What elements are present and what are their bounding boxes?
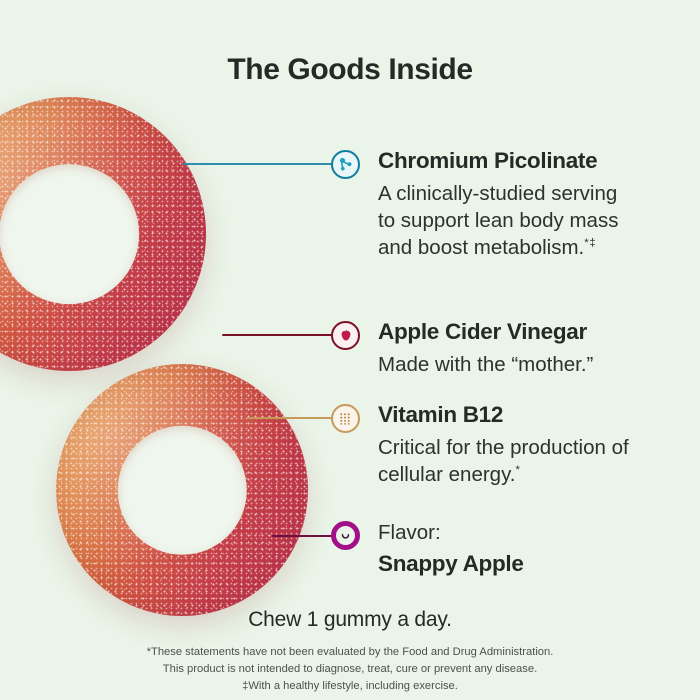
flavor-label: Flavor: bbox=[378, 521, 524, 546]
disclaimer-text: *These statements have not been evaluate… bbox=[0, 644, 700, 695]
ingredient-body-acv: Made with the “mother.” bbox=[378, 351, 668, 378]
page-title: The Goods Inside bbox=[0, 53, 700, 87]
ingredient-title-chromium: Chromium Picolinate bbox=[378, 148, 640, 175]
infographic-canvas: The Goods Inside Chromium Picolinate A c… bbox=[0, 0, 700, 700]
ingredient-title-acv: Apple Cider Vinegar bbox=[378, 319, 668, 346]
ingredient-block-chromium: Chromium Picolinate A clinically-studied… bbox=[378, 148, 640, 261]
ingredient-title-b12: Vitamin B12 bbox=[378, 402, 678, 429]
connector-line-acv bbox=[222, 334, 333, 336]
ingredient-body-chromium: A clinically-studied serving to support … bbox=[378, 180, 640, 262]
gummy-hole-top bbox=[0, 164, 139, 304]
ingredient-block-b12: Vitamin B12 Critical for the production … bbox=[378, 402, 678, 488]
disclaimer-line-3: ‡With a healthy lifestyle, including exe… bbox=[0, 678, 700, 695]
gummy-image-top bbox=[0, 97, 206, 371]
molecule-icon bbox=[331, 150, 360, 179]
ingredient-marks-b12: * bbox=[516, 464, 521, 476]
ingredient-body-text-chromium: A clinically-studied serving to support … bbox=[378, 182, 618, 260]
gummy-image-bottom bbox=[56, 364, 308, 616]
connector-line-b12 bbox=[247, 417, 333, 419]
smile-ring-icon bbox=[331, 521, 360, 550]
dosage-instruction: Chew 1 gummy a day. bbox=[0, 608, 700, 632]
disclaimer-line-2: This product is not intended to diagnose… bbox=[0, 661, 700, 678]
ingredient-body-text-b12: Critical for the production of cellular … bbox=[378, 436, 629, 486]
connector-line-flavor bbox=[272, 535, 333, 537]
ingredient-body-b12: Critical for the production of cellular … bbox=[378, 434, 678, 489]
gummy-hole-bottom bbox=[118, 426, 247, 555]
apple-icon bbox=[331, 321, 360, 350]
dotted-grid-icon bbox=[331, 404, 360, 433]
flavor-block: Flavor: Snappy Apple bbox=[378, 521, 524, 577]
connector-line-chromium bbox=[183, 163, 333, 165]
disclaimer-line-1: *These statements have not been evaluate… bbox=[0, 644, 700, 661]
ingredient-block-acv: Apple Cider Vinegar Made with the “mothe… bbox=[378, 319, 668, 378]
flavor-value: Snappy Apple bbox=[378, 551, 524, 578]
ingredient-marks-chromium: *‡ bbox=[584, 237, 596, 249]
